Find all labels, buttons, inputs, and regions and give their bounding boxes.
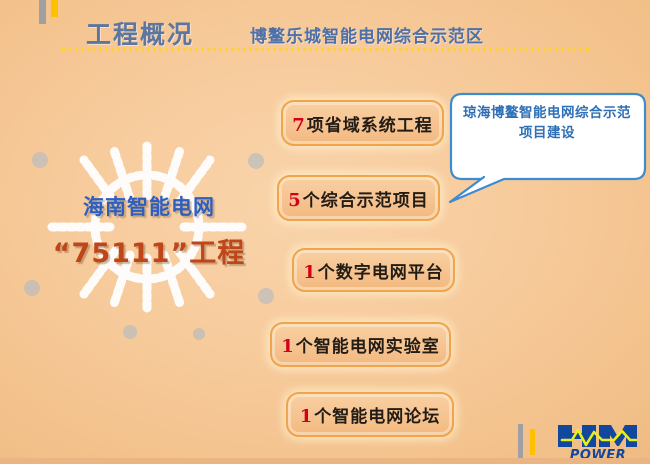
slide-canvas: 工程概况 博鳌乐城智能电网综合示范区 <box>0 0 650 464</box>
bottom-band <box>0 458 650 464</box>
hm-power-logo: POWER <box>556 421 640 461</box>
item-box-5[interactable]: 1个智能电网论坛 <box>286 392 454 437</box>
item-box-2-label: 个综合示范项目 <box>303 191 429 211</box>
item-box-4-text: 1个智能电网实验室 <box>281 332 440 357</box>
item-box-3-number: 1 <box>303 262 318 283</box>
item-box-1-number: 7 <box>292 115 307 136</box>
callout-bubble[interactable]: 琼海博鳌智能电网综合示范项目建设 <box>448 92 648 204</box>
item-box-2-number: 5 <box>288 190 303 211</box>
item-box-4[interactable]: 1个智能电网实验室 <box>270 322 451 367</box>
decor-bar-gray-bottom <box>518 424 523 458</box>
item-box-3-label: 个数字电网平台 <box>318 263 444 283</box>
header-divider <box>62 48 590 51</box>
callout-text: 琼海博鳌智能电网综合示范项目建设 <box>458 104 636 143</box>
item-box-2[interactable]: 5个综合示范项目 <box>277 175 440 221</box>
item-box-4-label: 个智能电网实验室 <box>296 337 440 357</box>
sunburst-graphic <box>14 120 284 340</box>
item-box-5-label: 个智能电网论坛 <box>314 407 440 427</box>
decor-bar-yellow-bottom <box>530 429 535 455</box>
page-subtitle: 博鳌乐城智能电网综合示范区 <box>250 22 484 47</box>
item-box-3-text: 1个数字电网平台 <box>303 258 444 283</box>
item-box-4-number: 1 <box>281 336 296 357</box>
item-box-5-number: 1 <box>300 406 315 427</box>
item-box-1-label: 项省域系统工程 <box>307 116 433 136</box>
page-title: 工程概况 <box>86 15 194 51</box>
item-box-1-text: 7项省域系统工程 <box>292 111 433 136</box>
item-box-1[interactable]: 7项省域系统工程 <box>281 100 444 146</box>
item-box-3[interactable]: 1个数字电网平台 <box>292 248 455 292</box>
item-box-5-text: 1个智能电网论坛 <box>300 402 441 427</box>
item-box-2-text: 5个综合示范项目 <box>288 186 429 211</box>
